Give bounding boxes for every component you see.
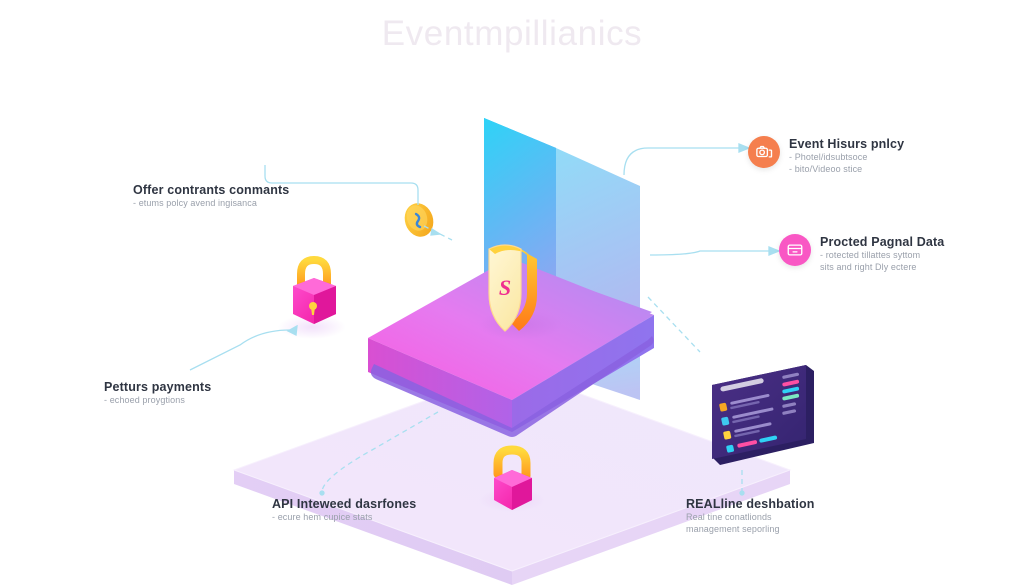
dashboard-card[interactable] — [702, 357, 820, 475]
callout-event-line-1: - bito/Videoo stice — [789, 164, 904, 176]
callout-petturs-title: Petturs payments — [104, 380, 211, 395]
shield-badge: S — [489, 245, 537, 331]
padlock-left — [293, 260, 336, 324]
camera-icon — [748, 136, 780, 168]
connector-event — [624, 148, 740, 175]
callout-protect-line-0: - rotected tillattes syttom — [820, 250, 944, 262]
callout-petturs-line-0: - echoed proygtions — [104, 395, 211, 407]
callout-api-line-0: - ecure hem cupice stats — [272, 512, 416, 524]
connector-petturs — [190, 330, 290, 370]
connector-dash-dashboard — [648, 297, 700, 352]
callout-petturs[interactable]: Petturs payments - echoed proygtions — [104, 380, 211, 407]
callout-event[interactable]: Event Hisurs pnlcy - Photel/idsubtsoce -… — [748, 136, 904, 175]
shield-emblem: S — [499, 275, 511, 300]
callout-api[interactable]: API Inteweed dasrfones - ecure hem cupic… — [272, 497, 416, 524]
callout-protect[interactable]: Procted Pagnal Data - rotected tillattes… — [779, 234, 944, 273]
callout-event-title: Event Hisurs pnlcy — [789, 137, 904, 152]
card-icon — [779, 234, 811, 266]
callout-protect-line-1: sits and right Dly ectere — [820, 262, 944, 274]
connector-protect — [650, 251, 770, 255]
callout-realline[interactable]: REALline deshbation Real tine conatliond… — [686, 497, 815, 535]
callout-event-line-0: - Photel/idsubtsoce — [789, 152, 904, 164]
callout-offer-title: Offer contrants conmants — [133, 183, 289, 198]
callout-realline-line-0: Real tine conatlionds — [686, 512, 815, 524]
callout-api-title: API Inteweed dasrfones — [272, 497, 416, 512]
isometric-scene: S — [0, 0, 1024, 585]
callout-realline-line-1: management seporling — [686, 524, 815, 536]
callout-offer[interactable]: Offer contrants conmants - etums polcy a… — [133, 183, 289, 210]
callout-protect-title: Procted Pagnal Data — [820, 235, 944, 250]
illustration-canvas: Eventmpillianics — [0, 0, 1024, 585]
callout-realline-title: REALline deshbation — [686, 497, 815, 512]
callout-offer-line-0: - etums polcy avend ingisanca — [133, 198, 289, 210]
